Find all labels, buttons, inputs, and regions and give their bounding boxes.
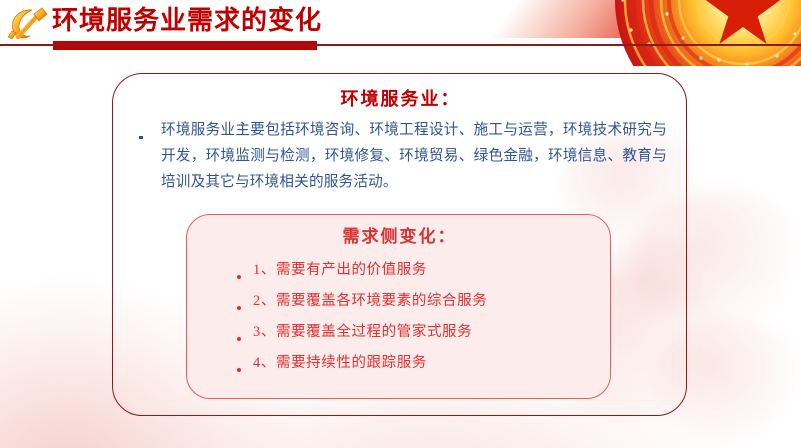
list-item: 2、需要覆盖各环境要素的综合服务 (237, 287, 597, 318)
list-item: 3、需要覆盖全过程的管家式服务 (237, 318, 597, 349)
demand-side-changes-card: 需求侧变化： 1、需要有产出的价值服务 2、需要覆盖各环境要素的综合服务 3、需… (186, 214, 611, 399)
round-bullet-icon (237, 256, 253, 284)
round-bullet-icon (237, 349, 253, 377)
list-item: 1、需要有产出的价值服务 (237, 256, 597, 287)
outer-card-paragraph-row: 环境服务业主要包括环境咨询、环境工程设计、施工与运营，环境技术研究与开发，环境监… (139, 117, 667, 195)
slide-header: 环境服务业需求的变化 (0, 0, 801, 52)
list-item: 4、需要持续性的跟踪服务 (237, 349, 597, 380)
red-sweep-decoration (470, 0, 661, 38)
title-rule (0, 44, 801, 46)
inner-card-heading: 需求侧变化： (187, 225, 612, 249)
radial-burst-star-decoration (571, 0, 801, 66)
list-item-label: 2、需要覆盖各环境要素的综合服务 (253, 287, 597, 315)
slide-canvas: 环境服务业需求的变化 环境服务业： 环境服务业主要包括环境咨询、环境工程设计、施… (0, 0, 801, 448)
five-pointed-star-icon (705, 0, 781, 44)
page-title: 环境服务业需求的变化 (52, 2, 322, 38)
round-bullet-icon (237, 318, 253, 346)
list-item-label: 3、需要覆盖全过程的管家式服务 (253, 318, 597, 346)
environmental-service-card: 环境服务业： 环境服务业主要包括环境咨询、环境工程设计、施工与运营，环境技术研究… (112, 73, 687, 416)
list-item-label: 4、需要持续性的跟踪服务 (253, 349, 597, 377)
outer-card-paragraph: 环境服务业主要包括环境咨询、环境工程设计、施工与运营，环境技术研究与开发，环境监… (161, 117, 667, 195)
hammer-and-sickle-emblem (6, 4, 50, 44)
list-item-label: 1、需要有产出的价值服务 (253, 256, 597, 284)
outer-card-heading: 环境服务业： (113, 87, 688, 111)
square-bullet-icon (139, 117, 161, 144)
round-bullet-icon (237, 287, 253, 315)
demand-side-changes-list: 1、需要有产出的价值服务 2、需要覆盖各环境要素的综合服务 3、需要覆盖全过程的… (237, 256, 597, 380)
